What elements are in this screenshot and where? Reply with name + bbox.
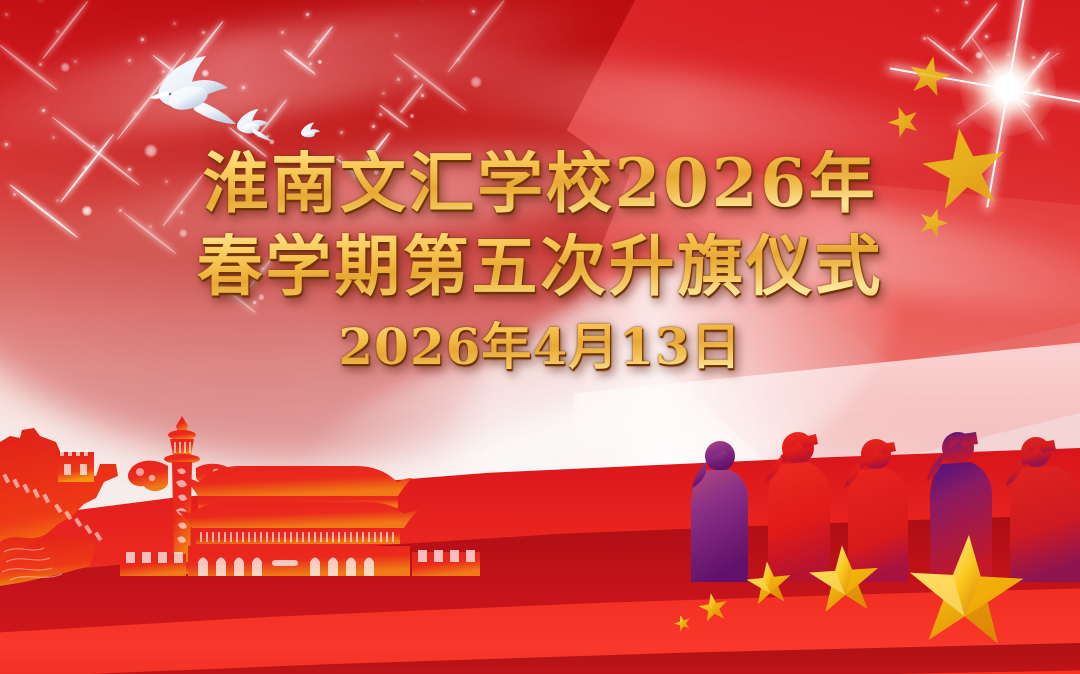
dove-medium-icon [237, 109, 272, 141]
flag-raising-ceremony-poster: 淮南文汇学校2026年 春学期第五次升旗仪式 2026年4月13日 [0, 0, 1080, 674]
ground-star-2 [697, 591, 730, 623]
sparkle-dot-icon [472, 10, 475, 13]
sparkle-dot-icon [92, 145, 95, 148]
date-line: 2026年4月13日 [0, 321, 1080, 372]
sparkle-dot-icon [42, 109, 45, 112]
sparkle-dot-icon [281, 31, 284, 34]
sparkle-dot-icon [923, 37, 926, 40]
ground-star-3 [745, 559, 793, 605]
gold-stars-group [660, 534, 1080, 674]
ground-star-4 [807, 543, 880, 613]
landmarks-group [0, 412, 480, 602]
title-block: 淮南文汇学校2026年 春学期第五次升旗仪式 2026年4月13日 [0, 150, 1080, 372]
dove-large-icon [150, 56, 236, 124]
sparkle-dot-icon [397, 78, 400, 81]
ground-star-1 [672, 613, 692, 633]
sparkle-dot-icon [382, 92, 385, 95]
sparkle-dot-icon [985, 35, 988, 38]
sparkle-dot-icon [5, 143, 8, 146]
title-line-1: 淮南文汇学校2026年 [0, 150, 1080, 217]
dove-small-icon [301, 123, 320, 138]
ground-star-5 [907, 534, 1026, 645]
sparkle-dot-icon [952, 48, 955, 51]
title-line-2: 春学期第五次升旗仪式 [0, 233, 1080, 300]
sparkle-dot-icon [395, 34, 398, 37]
sparkle-dot-icon [936, 9, 939, 12]
great-wall-icon [0, 428, 118, 586]
